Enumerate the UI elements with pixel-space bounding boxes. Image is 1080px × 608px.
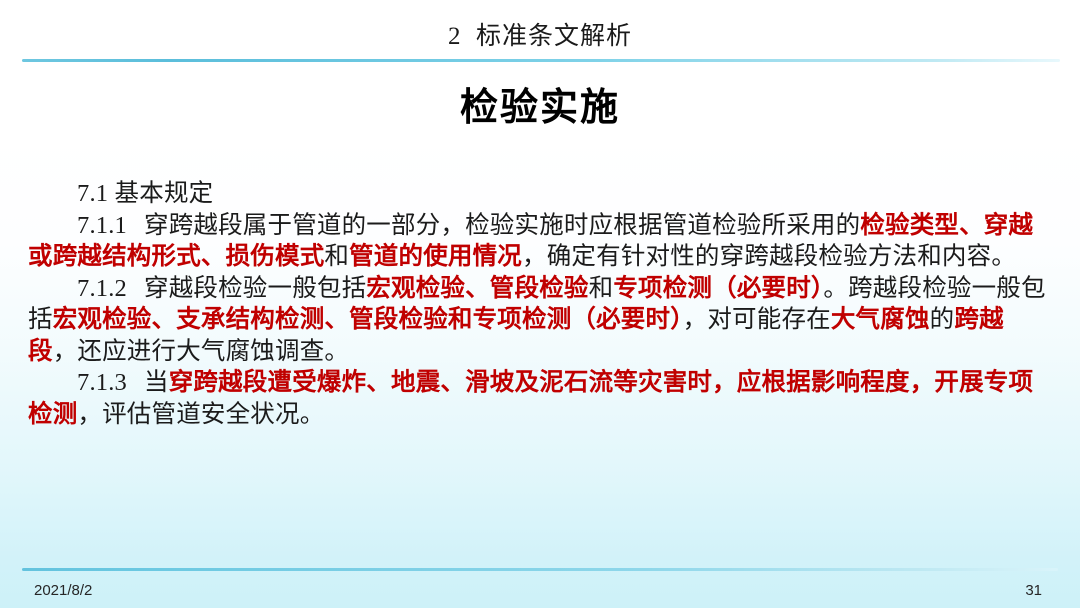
clause-run-3-highlight: 专项检测（必要时）	[613, 275, 823, 302]
paragraph-7-1-1: 7.1.1穿跨越段属于管道的一部分，检验实施时应根据管道检验所采用的检验类型、穿…	[28, 210, 1052, 273]
clause-number: 7.1.2	[77, 275, 127, 302]
clause-run-3-highlight: 管道的使用情况	[349, 243, 522, 270]
clause-run-0: 穿跨越段属于管道的一部分，检验实施时应根据管道检验所采用的	[144, 212, 860, 239]
footer-page-number: 31	[1025, 582, 1042, 599]
clause-number: 7.1.3	[77, 369, 127, 396]
clause-number: 7.1.1	[77, 212, 127, 239]
clause-run-2: 和	[324, 243, 349, 270]
slide-header: 2 标准条文解析	[0, 0, 1080, 60]
footer-divider	[22, 568, 1058, 571]
page-title: 检验实施	[0, 76, 1080, 131]
paragraph-7-1-2: 7.1.2穿越段检验一般包括宏观检验、管段检验和专项检测（必要时）。跨越段检验一…	[28, 273, 1052, 368]
header-divider	[22, 59, 1060, 62]
slide: 2 标准条文解析 检验实施 7.1 基本规定 7.1.1穿跨越段属于管道的一部分…	[0, 0, 1080, 608]
clause-run-0: 穿越段检验一般包括	[144, 275, 366, 302]
clause-run-4: ，确定有针对性的穿跨越段检验方法和内容。	[522, 243, 1016, 270]
clause-run-2: ，评估管道安全状况。	[77, 401, 324, 428]
clause-run-8: 的	[930, 306, 955, 333]
clause-run-2: 和	[589, 275, 614, 302]
paragraph-7-1-3: 7.1.3当穿跨越段遭受爆炸、地震、滑坡及泥石流等灾害时，应根据影响程度，开展专…	[28, 367, 1052, 430]
clause-run-7-highlight: 大气腐蚀	[831, 306, 930, 333]
footer-date: 2021/8/2	[34, 582, 92, 599]
clause-run-0: 当	[144, 369, 169, 396]
body-content: 7.1 基本规定 7.1.1穿跨越段属于管道的一部分，检验实施时应根据管道检验所…	[28, 168, 1052, 430]
clause-run-5-highlight: 宏观检验、支承结构检测、管段检验和专项检测（必要时）	[53, 306, 683, 333]
section-heading-text: 7.1 基本规定	[77, 180, 213, 207]
header-title: 2 标准条文解析	[0, 16, 1080, 52]
clause-run-10: ，还应进行大气腐蚀调查。	[53, 338, 349, 365]
slide-footer: 2021/8/2 31	[0, 560, 1080, 608]
section-heading: 7.1 基本规定	[28, 178, 1052, 210]
clause-run-6: ，对可能存在	[683, 306, 831, 333]
clause-run-1-highlight: 宏观检验、管段检验	[366, 275, 588, 302]
